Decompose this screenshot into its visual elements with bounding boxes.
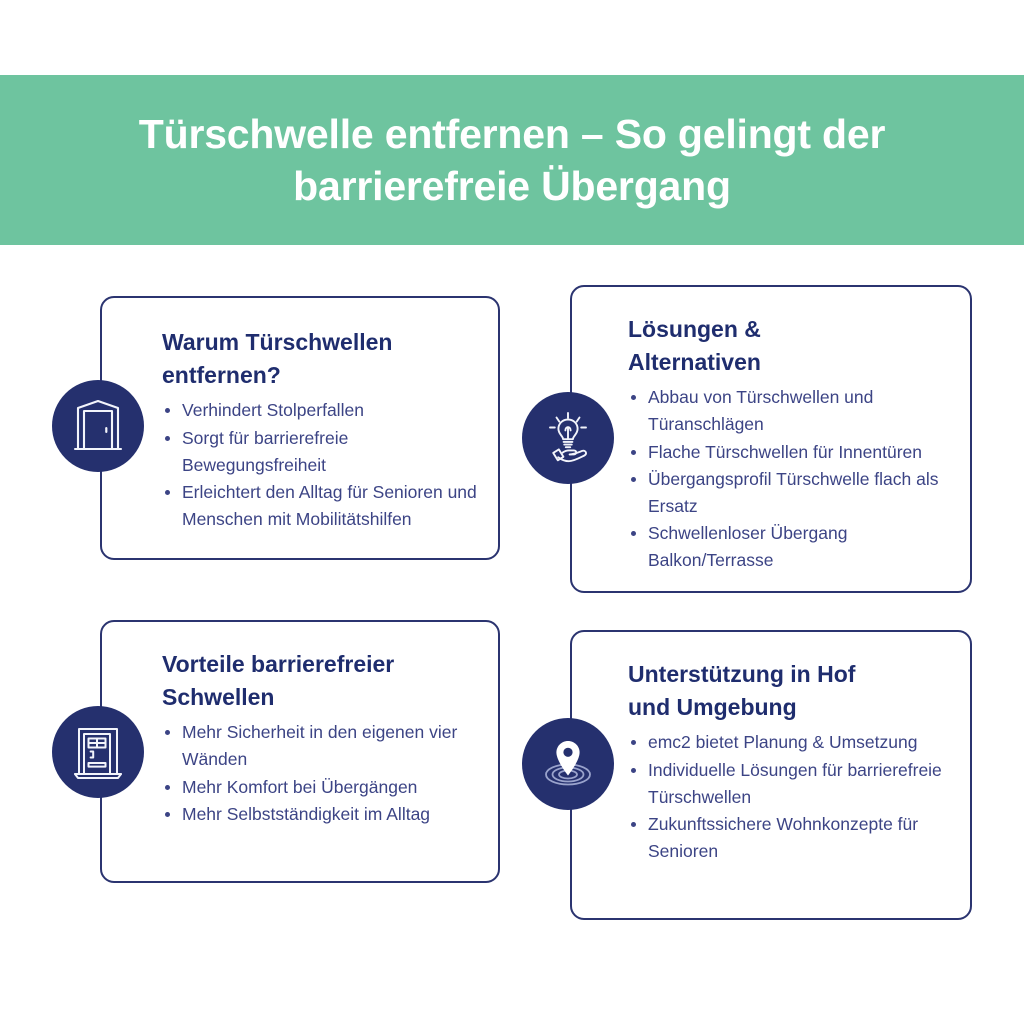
list-item: Mehr Selbstständigkeit im Alltag [162,801,478,828]
list-item: Abbau von Türschwellen und Türanschlägen [628,384,952,437]
list-item: Zukunftssichere Wohnkonzepte für Seniore… [628,811,952,864]
list-item: Sorgt für barrierefreie Bewegungsfreihei… [162,425,478,478]
list-item: Verhindert Stolperfallen [162,397,478,424]
card-benefits[interactable]: Vorteile barrierefreier Schwellen Mehr S… [100,620,500,883]
card-support-list: emc2 bietet Planung & Umsetzung Individu… [628,729,952,864]
card-support-content: Unterstützung in Hof und Umgebung emc2 b… [628,658,952,865]
front-door-icon [72,724,124,780]
page-title: Türschwelle entfernen – So gelingt der b… [139,108,886,213]
card-solutions-list: Abbau von Türschwellen und Türanschlägen… [628,384,952,573]
card-benefits-icon-badge [52,706,144,798]
door-icon [73,398,123,454]
lightbulb-in-hand-icon [540,410,596,466]
list-item: Flache Türschwellen für Innentüren [628,439,952,466]
card-benefits-content: Vorteile barrierefreier Schwellen Mehr S… [162,648,478,829]
list-item: emc2 bietet Planung & Umsetzung [628,729,952,756]
card-benefits-list: Mehr Sicherheit in den eigenen vier Wänd… [162,719,478,827]
list-item: Erleichtert den Alltag für Senioren und … [162,479,478,532]
card-solutions-content: Lösungen & Alternativen Abbau von Türsch… [628,313,952,574]
list-item: Schwellenloser Übergang Balkon/Terrasse [628,520,952,573]
card-support-heading: Unterstützung in Hof und Umgebung [628,658,952,723]
card-solutions[interactable]: Lösungen & Alternativen Abbau von Türsch… [570,285,972,593]
card-why-list: Verhindert Stolperfallen Sorgt für barri… [162,397,478,532]
card-support[interactable]: Unterstützung in Hof und Umgebung emc2 b… [570,630,972,920]
card-support-icon-badge [522,718,614,810]
card-solutions-icon-badge [522,392,614,484]
card-why[interactable]: Warum Türschwellen entfernen? Verhindert… [100,296,500,560]
card-why-heading: Warum Türschwellen entfernen? [162,326,478,391]
list-item: Übergangsprofil Türschwelle flach als Er… [628,466,952,519]
list-item: Mehr Sicherheit in den eigenen vier Wänd… [162,719,478,772]
list-item: Mehr Komfort bei Übergängen [162,774,478,801]
card-grid: Warum Türschwellen entfernen? Verhindert… [0,245,1024,1024]
card-why-content: Warum Türschwellen entfernen? Verhindert… [162,326,478,533]
card-solutions-heading: Lösungen & Alternativen [628,313,952,378]
header-banner: Türschwelle entfernen – So gelingt der b… [0,75,1024,245]
card-why-icon-badge [52,380,144,472]
map-pin-icon [539,736,597,792]
card-benefits-heading: Vorteile barrierefreier Schwellen [162,648,478,713]
list-item: Individuelle Lösungen für barrierefreie … [628,757,952,810]
